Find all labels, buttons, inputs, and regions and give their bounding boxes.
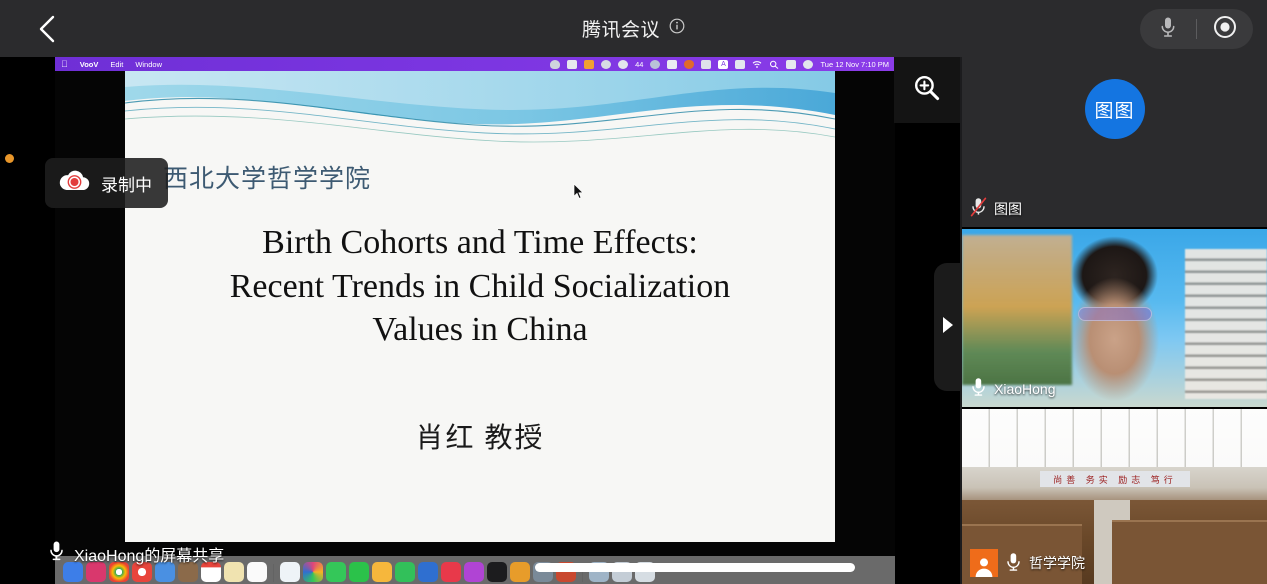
slide-title-line-2: Recent Trends in Child Socialization	[139, 265, 821, 309]
top-bar: 腾讯会议	[0, 0, 1267, 57]
participant-label: 哲学学院	[970, 549, 1085, 577]
display-icon[interactable]	[701, 60, 711, 69]
battery-icon[interactable]	[735, 60, 745, 69]
participant-name: XiaoHong	[994, 381, 1056, 397]
classroom-banner: 尚善 务实 励志 笃行	[1040, 471, 1190, 487]
wechat-icon[interactable]	[550, 60, 560, 69]
siri-icon[interactable]	[803, 60, 813, 69]
record-button[interactable]	[1197, 9, 1253, 49]
mac-menu-status-icons: 44 A Tue 12 Nov 7:10 PM	[550, 60, 889, 69]
top-right-controls	[1140, 9, 1253, 49]
recording-label: 录制中	[101, 171, 152, 196]
video-background-left	[962, 235, 1072, 385]
horizontal-scrollbar[interactable]	[535, 563, 855, 572]
mic-button[interactable]	[1140, 9, 1196, 49]
dock-item[interactable]	[441, 562, 461, 582]
shared-screen-area[interactable]:  VooV Edit Window 44 A	[0, 57, 960, 584]
mac-menu-left:  VooV Edit Window	[61, 60, 162, 69]
wechat2-icon[interactable]	[618, 60, 628, 69]
person-avatar-icon	[970, 549, 998, 577]
dock-item[interactable]	[395, 562, 415, 582]
control-center-icon[interactable]	[786, 60, 796, 69]
dock-item[interactable]	[303, 562, 323, 582]
avatar: 图图	[1085, 79, 1145, 139]
expand-panel-tab[interactable]	[934, 263, 960, 391]
page-title: 腾讯会议	[582, 15, 660, 42]
magnifier-plus-icon	[912, 73, 942, 108]
microphone-icon	[1158, 15, 1178, 44]
globe-icon[interactable]	[650, 60, 660, 69]
menu-item-edit[interactable]: Edit	[110, 60, 123, 69]
dock-item[interactable]	[418, 562, 438, 582]
pinyin-icon[interactable]	[584, 60, 594, 69]
dock-item[interactable]	[372, 562, 392, 582]
participant-name: 图图	[994, 199, 1022, 219]
dock-item[interactable]	[487, 562, 507, 582]
info-circle-icon[interactable]	[669, 18, 685, 39]
participant-rail: 图图 图图	[962, 57, 1267, 584]
dock-item[interactable]	[349, 562, 369, 582]
search-icon[interactable]	[769, 60, 779, 69]
share-owner: XiaoHong的屏幕共享	[48, 540, 224, 567]
cloud-record-icon	[57, 168, 91, 199]
video-ceiling	[962, 409, 1267, 467]
recording-badge: 录制中	[45, 158, 168, 208]
video-background-right	[1185, 249, 1267, 399]
at-icon[interactable]	[601, 60, 611, 69]
shared-mac-desktop:  VooV Edit Window 44 A	[55, 57, 895, 584]
apple-logo-icon[interactable]: 	[61, 60, 68, 69]
dock-divider	[273, 564, 274, 582]
menu-item-window[interactable]: Window	[135, 60, 162, 69]
slide-title-line-3: Values in China	[139, 308, 821, 352]
dock-item[interactable]	[510, 562, 530, 582]
participant-label: 图图	[970, 197, 1022, 220]
microphone-icon	[970, 377, 987, 400]
dock-item[interactable]	[326, 562, 346, 582]
participant-label: XiaoHong	[970, 377, 1056, 400]
dock-item[interactable]	[224, 562, 244, 582]
zoom-in-button[interactable]	[894, 57, 960, 123]
binoculars-icon[interactable]	[667, 60, 677, 69]
slide-organization: 西北大学哲学学院	[163, 159, 371, 195]
slide-author: 肖红 教授	[125, 416, 835, 456]
video-desk-right	[1112, 520, 1267, 584]
slide-title: Birth Cohorts and Time Effects: Recent T…	[125, 221, 835, 352]
notification-count: 44	[635, 60, 643, 69]
participant-tile[interactable]: XiaoHong	[962, 229, 1267, 407]
video-subject-glasses	[1078, 307, 1152, 321]
dock-item[interactable]	[280, 562, 300, 582]
mouse-cursor-icon	[573, 183, 585, 205]
keyboard-A-icon[interactable]: A	[718, 60, 728, 69]
presentation-slide: 西北大学哲学学院 Birth Cohorts and Time Effects:…	[125, 71, 835, 542]
record-dot-icon	[1213, 15, 1237, 44]
triangle-right-icon	[941, 316, 954, 339]
microphone-muted-icon	[970, 197, 987, 220]
speaking-indicator-dot	[5, 154, 14, 163]
participant-name: 哲学学院	[1029, 553, 1085, 573]
participant-tile[interactable]: 图图 图图	[962, 57, 1267, 227]
share-owner-label: XiaoHong的屏幕共享	[74, 542, 224, 566]
dock-item[interactable]	[247, 562, 267, 582]
meeting-title-group: 腾讯会议	[0, 0, 1267, 57]
screen-icon[interactable]	[567, 60, 577, 69]
participant-tile[interactable]: 尚善 务实 励志 笃行	[962, 409, 1267, 584]
slide-title-line-1: Birth Cohorts and Time Effects:	[139, 221, 821, 265]
mac-menu-bar:  VooV Edit Window 44 A	[55, 57, 895, 71]
menu-item-voov[interactable]: VooV	[80, 60, 99, 69]
dock-item[interactable]	[464, 562, 484, 582]
voov-meeting-window: 腾讯会议	[0, 0, 1267, 584]
microphone-icon	[1005, 552, 1022, 575]
slide-wave-decoration	[125, 71, 835, 171]
microphone-icon	[48, 540, 65, 567]
mac-clock: Tue 12 Nov 7:10 PM	[820, 60, 889, 69]
wifi-icon[interactable]	[752, 60, 762, 69]
shield-icon[interactable]	[684, 60, 694, 69]
